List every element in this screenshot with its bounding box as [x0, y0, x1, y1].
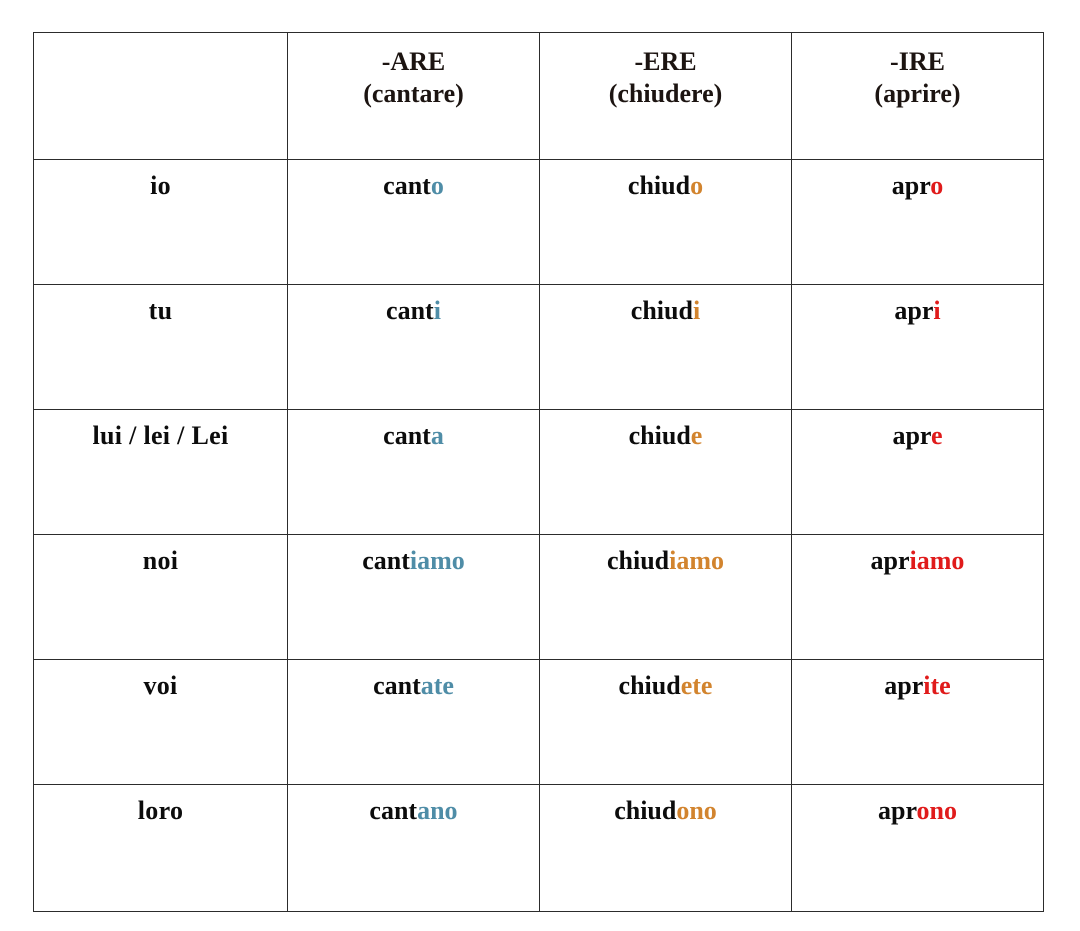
header-cell-are: -ARE (cantare)	[288, 33, 540, 160]
cell-ere-form: chiudo	[540, 160, 792, 285]
verb-form-ire: aprono	[792, 785, 1043, 826]
verb-stem: apr	[871, 546, 910, 575]
cell-are-form: canti	[288, 285, 540, 410]
cell-ere-form: chiude	[540, 410, 792, 535]
table-row: loro cantano chiudono aprono	[34, 785, 1044, 912]
verb-stem: chiud	[619, 671, 681, 700]
cell-ire-form: apre	[792, 410, 1044, 535]
cell-are-form: cantiamo	[288, 535, 540, 660]
pronoun-label: noi	[34, 535, 287, 576]
verb-ending: i	[434, 296, 441, 325]
table-row: lui / lei / Lei canta chiude apre	[34, 410, 1044, 535]
verb-conjugation-table: -ARE (cantare) -ERE (chiudere) -IRE (apr…	[33, 32, 1044, 912]
verb-form-ere: chiudiamo	[540, 535, 791, 576]
verb-stem: apr	[894, 296, 933, 325]
verb-stem: chiud	[614, 796, 676, 825]
verb-form-ire: apri	[792, 285, 1043, 326]
verb-stem: apr	[878, 796, 917, 825]
pronoun-label: lui / lei / Lei	[34, 410, 287, 451]
verb-form-ire: apriamo	[792, 535, 1043, 576]
verb-ending: ono	[676, 796, 716, 825]
cell-ire-form: aprono	[792, 785, 1044, 912]
cell-are-form: cantano	[288, 785, 540, 912]
verb-form-are: canto	[288, 160, 539, 201]
pronoun-label: loro	[34, 785, 287, 826]
verb-stem: apr	[884, 671, 923, 700]
verb-ending: ate	[421, 671, 454, 700]
cell-pronoun: loro	[34, 785, 288, 912]
verb-stem: cant	[383, 421, 431, 450]
verb-form-ere: chiudete	[540, 660, 791, 701]
verb-stem: apr	[892, 171, 931, 200]
verb-form-ire: aprite	[792, 660, 1043, 701]
verb-ending: e	[931, 421, 943, 450]
verb-ending: ono	[917, 796, 957, 825]
pronoun-label: tu	[34, 285, 287, 326]
verb-stem: chiud	[607, 546, 669, 575]
cell-ere-form: chiudiamo	[540, 535, 792, 660]
verb-form-are: cantate	[288, 660, 539, 701]
header-ire-title: -IRE	[792, 46, 1043, 78]
verb-ending: a	[431, 421, 444, 450]
cell-ere-form: chiudete	[540, 660, 792, 785]
table-row: noi cantiamo chiudiamo apriamo	[34, 535, 1044, 660]
table-row: tu canti chiudi apri	[34, 285, 1044, 410]
cell-pronoun: io	[34, 160, 288, 285]
header-blank-inner	[34, 33, 287, 159]
verb-stem: chiud	[628, 171, 690, 200]
verb-stem: cant	[362, 546, 410, 575]
verb-form-are: cantano	[288, 785, 539, 826]
cell-ere-form: chiudono	[540, 785, 792, 912]
cell-are-form: canta	[288, 410, 540, 535]
verb-form-are: canti	[288, 285, 539, 326]
header-ere-title: -ERE	[540, 46, 791, 78]
verb-ending: i	[693, 296, 700, 325]
verb-form-ere: chiudi	[540, 285, 791, 326]
verb-stem: chiud	[631, 296, 693, 325]
header-are-inner: -ARE (cantare)	[288, 33, 539, 159]
verb-form-are: canta	[288, 410, 539, 451]
verb-form-ire: apre	[792, 410, 1043, 451]
verb-ending: iamo	[669, 546, 724, 575]
verb-ending: o	[690, 171, 703, 200]
cell-ere-form: chiudi	[540, 285, 792, 410]
cell-ire-form: apriamo	[792, 535, 1044, 660]
verb-ending: o	[431, 171, 444, 200]
verb-stem: cant	[369, 796, 417, 825]
verb-ending: iamo	[410, 546, 465, 575]
verb-form-ere: chiudono	[540, 785, 791, 826]
header-ere-inner: -ERE (chiudere)	[540, 33, 791, 159]
verb-ending: ano	[417, 796, 457, 825]
table-row: voi cantate chiudete aprite	[34, 660, 1044, 785]
verb-stem: cant	[386, 296, 434, 325]
header-cell-ere: -ERE (chiudere)	[540, 33, 792, 160]
cell-pronoun: voi	[34, 660, 288, 785]
header-ire-infinitive: (aprire)	[792, 78, 1043, 110]
verb-form-are: cantiamo	[288, 535, 539, 576]
verb-stem: apr	[892, 421, 931, 450]
cell-pronoun: lui / lei / Lei	[34, 410, 288, 535]
verb-ending: ete	[681, 671, 713, 700]
verb-ending: ite	[923, 671, 950, 700]
cell-pronoun: tu	[34, 285, 288, 410]
cell-are-form: canto	[288, 160, 540, 285]
cell-pronoun: noi	[34, 535, 288, 660]
header-cell-blank	[34, 33, 288, 160]
pronoun-label: voi	[34, 660, 287, 701]
pronoun-label: io	[34, 160, 287, 201]
cell-ire-form: apri	[792, 285, 1044, 410]
verb-stem: chiud	[629, 421, 691, 450]
verb-stem: cant	[383, 171, 431, 200]
verb-form-ere: chiude	[540, 410, 791, 451]
table-row: io canto chiudo apro	[34, 160, 1044, 285]
page-root: -ARE (cantare) -ERE (chiudere) -IRE (apr…	[0, 0, 1080, 931]
header-are-infinitive: (cantare)	[288, 78, 539, 110]
verb-ending: e	[691, 421, 703, 450]
verb-ending: o	[930, 171, 943, 200]
verb-ending: i	[933, 296, 940, 325]
verb-ending: iamo	[910, 546, 965, 575]
header-are-title: -ARE	[288, 46, 539, 78]
header-cell-ire: -IRE (aprire)	[792, 33, 1044, 160]
cell-ire-form: apro	[792, 160, 1044, 285]
cell-ire-form: aprite	[792, 660, 1044, 785]
verb-stem: cant	[373, 671, 421, 700]
header-ere-infinitive: (chiudere)	[540, 78, 791, 110]
verb-form-ire: apro	[792, 160, 1043, 201]
cell-are-form: cantate	[288, 660, 540, 785]
table-header-row: -ARE (cantare) -ERE (chiudere) -IRE (apr…	[34, 33, 1044, 160]
header-ire-inner: -IRE (aprire)	[792, 33, 1043, 159]
verb-form-ere: chiudo	[540, 160, 791, 201]
